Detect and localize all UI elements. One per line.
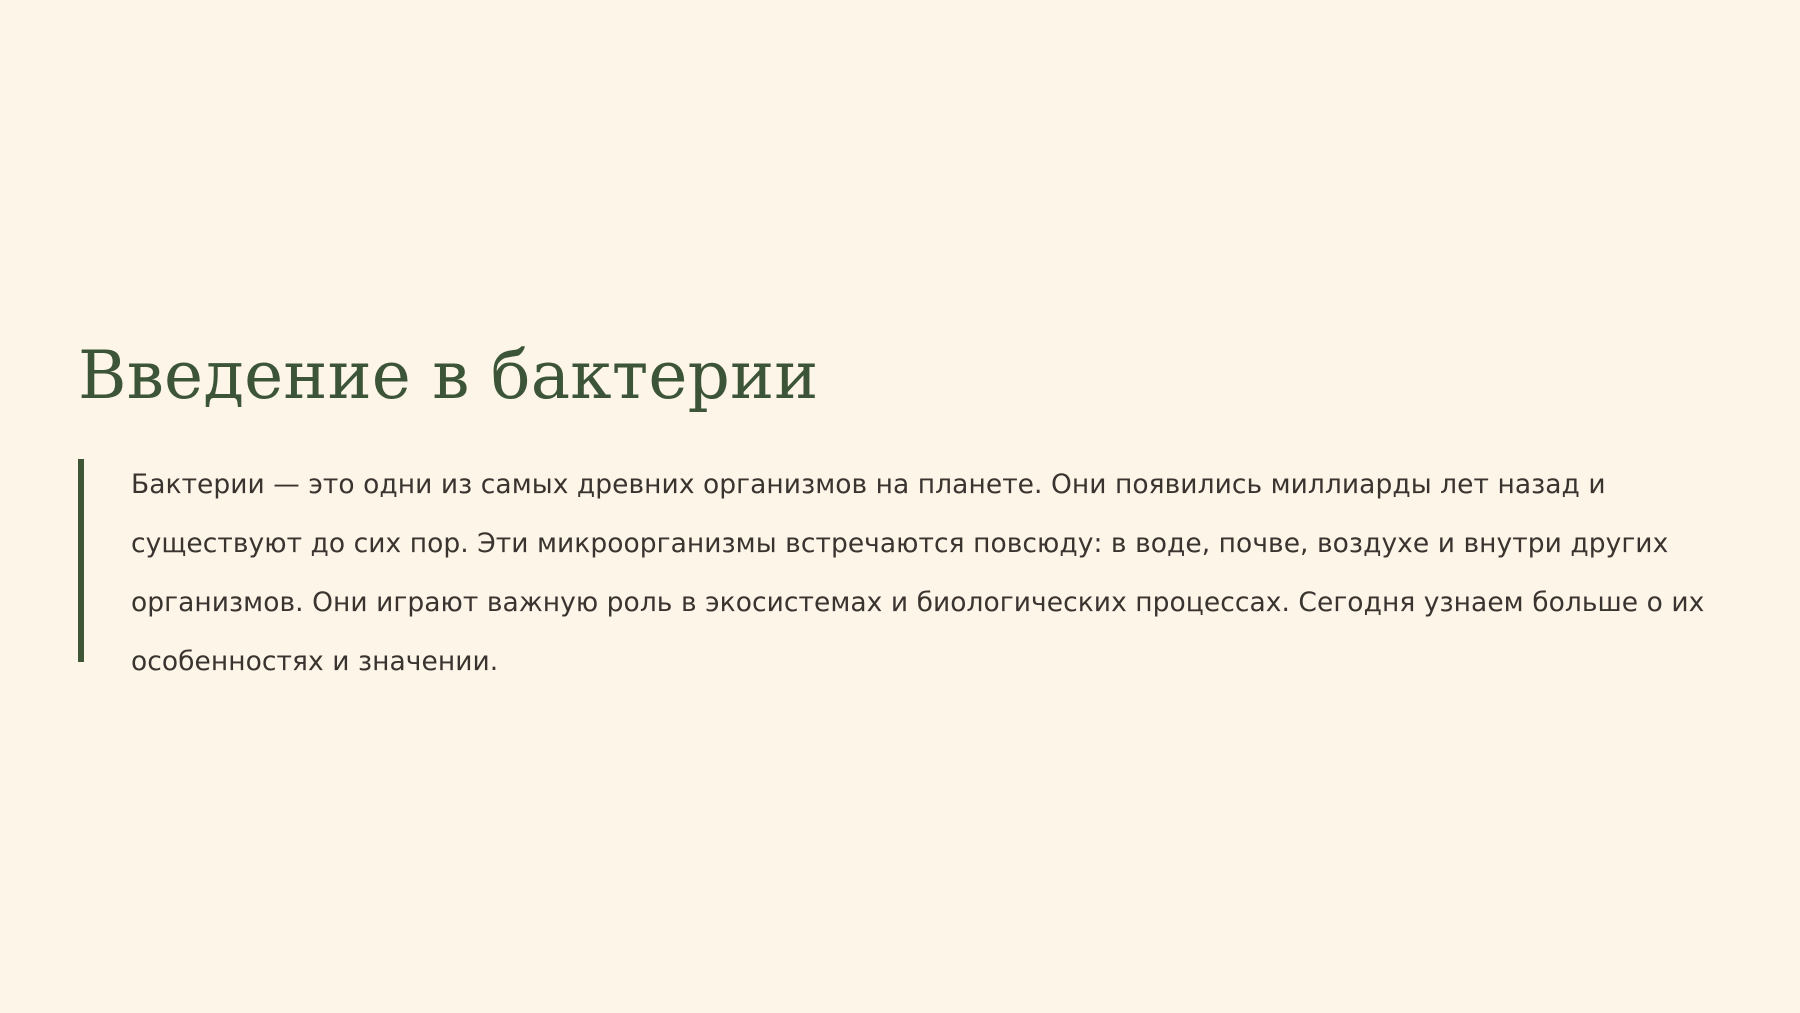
slide-canvas: Введение в бактерии Бактерии — это одни … (0, 0, 1800, 1013)
body-block: Бактерии — это одни из самых древних орг… (78, 455, 1718, 691)
page-title: Введение в бактерии (78, 340, 1718, 411)
slide-content: Введение в бактерии Бактерии — это одни … (78, 340, 1718, 691)
accent-bar (78, 459, 84, 662)
body-paragraph: Бактерии — это одни из самых древних орг… (131, 455, 1718, 691)
